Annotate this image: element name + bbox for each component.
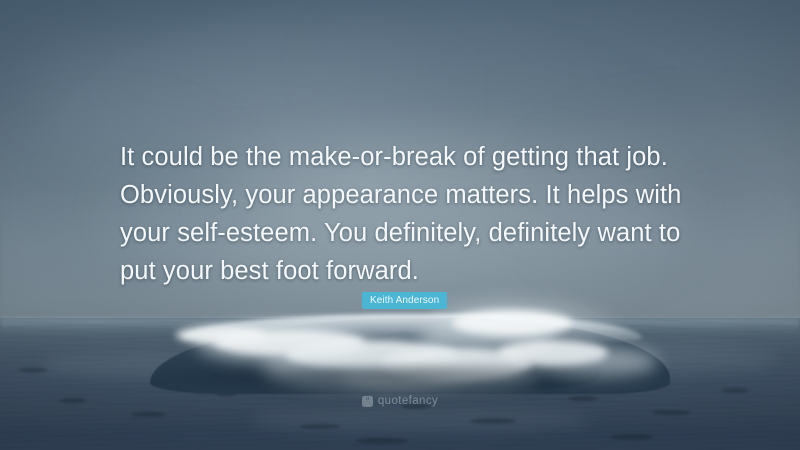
water-speck xyxy=(300,424,340,429)
water-speck xyxy=(652,410,690,415)
water-speck xyxy=(610,434,654,440)
watermark[interactable]: “ quotefancy xyxy=(0,395,800,407)
quote-text: It could be the make-or-break of getting… xyxy=(120,138,686,290)
watermark-brand: quotefancy xyxy=(378,395,438,407)
water-speck xyxy=(132,412,166,417)
cloud-band-upper-right xyxy=(330,8,800,128)
quote-mark-icon: “ xyxy=(362,396,373,407)
water-speck xyxy=(470,418,516,424)
water-speck xyxy=(356,438,408,444)
water-sheen-foreground xyxy=(250,408,590,434)
wave-foam xyxy=(452,310,572,336)
breaking-wave xyxy=(0,296,800,406)
wave-foam xyxy=(176,326,266,344)
author-name: Keith Anderson xyxy=(370,296,439,306)
quote-image-canvas: It could be the make-or-break of getting… xyxy=(0,0,800,450)
author-badge: Keith Anderson xyxy=(362,292,447,309)
